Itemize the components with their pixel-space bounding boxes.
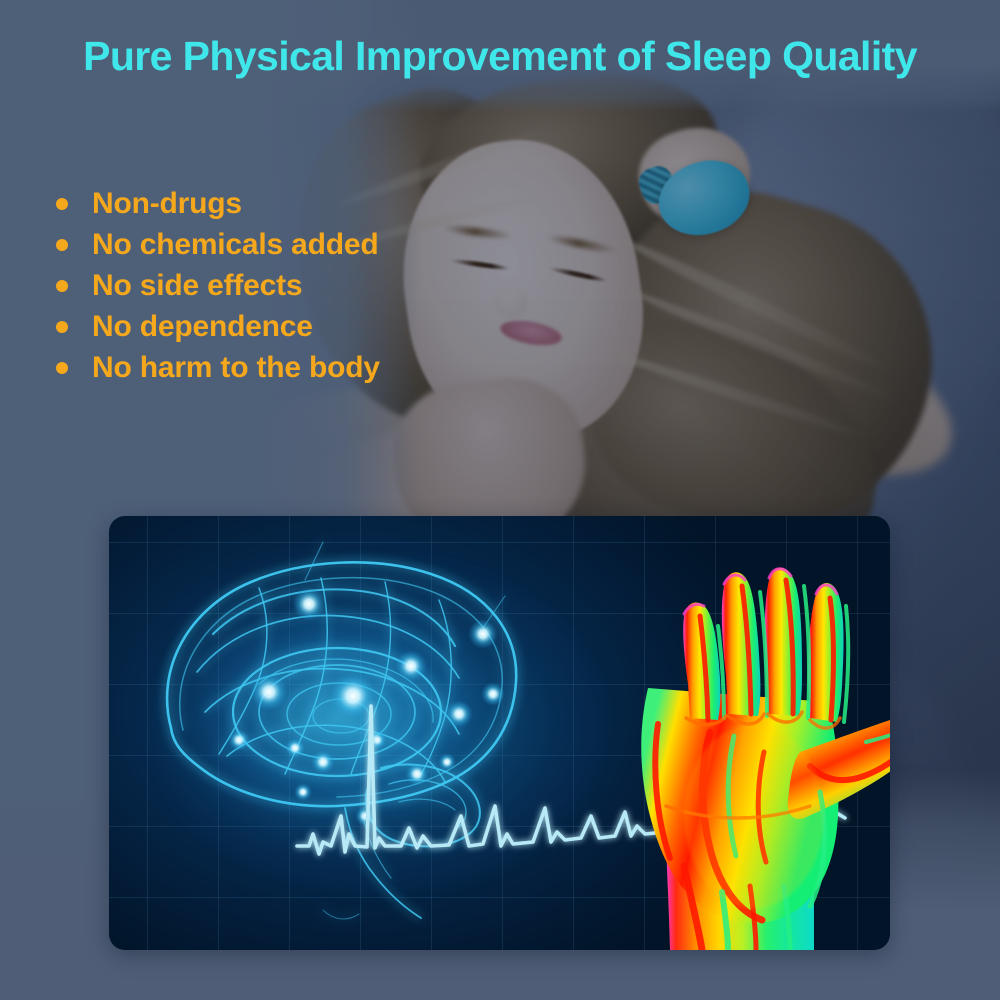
bullet-dot-icon — [56, 362, 68, 374]
list-item: No harm to the body — [56, 347, 486, 388]
bullet-dot-icon — [56, 321, 68, 333]
benefit-label: No chemicals added — [92, 228, 379, 262]
bullet-dot-icon — [56, 280, 68, 292]
benefit-label: Non-drugs — [92, 187, 242, 221]
science-panel — [109, 516, 890, 950]
list-item: Non-drugs — [56, 183, 486, 224]
brain-graphic — [129, 542, 549, 919]
benefit-label: No harm to the body — [92, 351, 380, 385]
benefits-list: Non-drugs No chemicals added No side eff… — [56, 183, 486, 388]
list-item: No side effects — [56, 265, 486, 306]
thermal-hand-graphic — [641, 568, 890, 950]
panel-graphics — [109, 516, 890, 950]
page-title: Pure Physical Improvement of Sleep Quali… — [0, 33, 1000, 80]
promo-image-root: Pure Physical Improvement of Sleep Quali… — [0, 0, 1000, 1000]
bullet-dot-icon — [56, 198, 68, 210]
list-item: No chemicals added — [56, 224, 486, 265]
list-item: No dependence — [56, 306, 486, 347]
bullet-dot-icon — [56, 239, 68, 251]
benefit-label: No side effects — [92, 269, 302, 303]
benefit-label: No dependence — [92, 310, 313, 344]
